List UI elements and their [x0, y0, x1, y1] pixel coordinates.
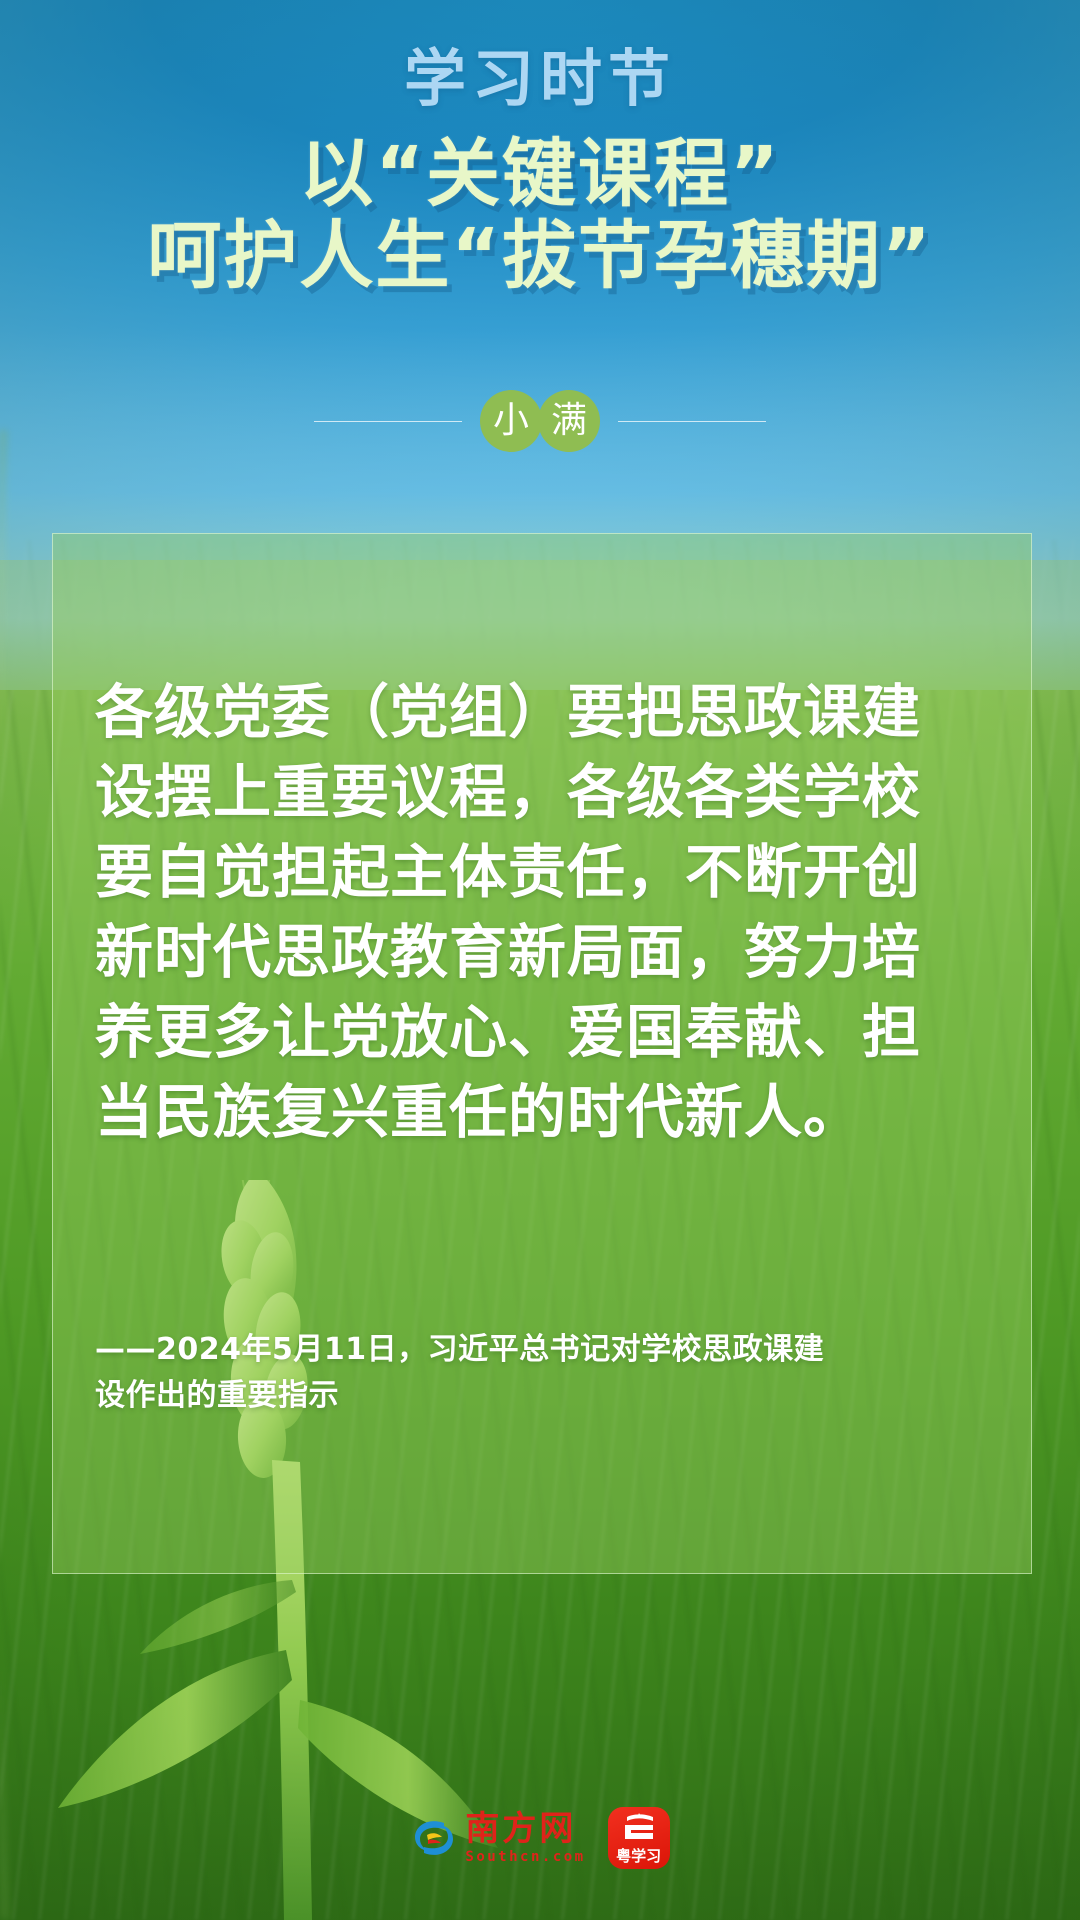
yuexuexi-label: 粤学习	[616, 1845, 661, 1866]
solar-term-badge: 小 满	[0, 385, 1080, 457]
solar-term-char-1: 小	[480, 390, 542, 452]
poster-canvas: 学习时节 以“关键课程” 呵护人生“拔节孕穗期” 小 满 各级党委（党组）要把思…	[0, 0, 1080, 1920]
divider-line-left	[314, 421, 462, 422]
quote-line-3: 要自觉担起主体责任，不断开创	[95, 832, 995, 912]
footer-logos: 南方网 Southcn.com 粤学习	[0, 1793, 1080, 1883]
quote-text: 各级党委（党组）要把思政课建 设摆上重要议程，各级各类学校 要自觉担起主体责任，…	[95, 672, 995, 1152]
southcn-wordmark: 南方网 Southcn.com	[465, 1812, 585, 1864]
quote-line-6: 当民族复兴重任的时代新人。	[95, 1072, 995, 1152]
divider-line-right	[618, 421, 766, 422]
southcn-name-en: Southcn.com	[465, 1850, 585, 1864]
yuexuexi-app-logo[interactable]: 粤学习	[608, 1807, 670, 1869]
title-line-2: 呵护人生“拔节孕穗期”	[0, 215, 1080, 297]
solar-term-circles: 小 满	[480, 390, 600, 452]
quote-line-1: 各级党委（党组）要把思政课建	[95, 672, 995, 752]
yuexuexi-book-icon	[619, 1813, 659, 1843]
quote-line-4: 新时代思政教育新局面，努力培	[95, 912, 995, 992]
southcn-name-cn: 南方网	[465, 1812, 576, 1846]
quote-line-5: 养更多让党放心、爱国奉献、担	[95, 992, 995, 1072]
brand-title: 学习时节	[0, 48, 1080, 110]
quote-line-2: 设摆上重要议程，各级各类学校	[95, 752, 995, 832]
page-title: 以“关键课程” 呵护人生“拔节孕穗期”	[0, 133, 1080, 297]
title-line-1: 以“关键课程”	[0, 133, 1080, 215]
quote-attribution: ——2024年5月11日，习近平总书记对学校思政课建 设作出的重要指示	[95, 1327, 965, 1419]
attribution-line-2: 设作出的重要指示	[95, 1373, 965, 1419]
southcn-logo[interactable]: 南方网 Southcn.com	[410, 1812, 585, 1864]
southcn-swirl-icon	[410, 1814, 458, 1862]
solar-term-char-2: 满	[538, 390, 600, 452]
attribution-line-1: ——2024年5月11日，习近平总书记对学校思政课建	[95, 1327, 965, 1373]
